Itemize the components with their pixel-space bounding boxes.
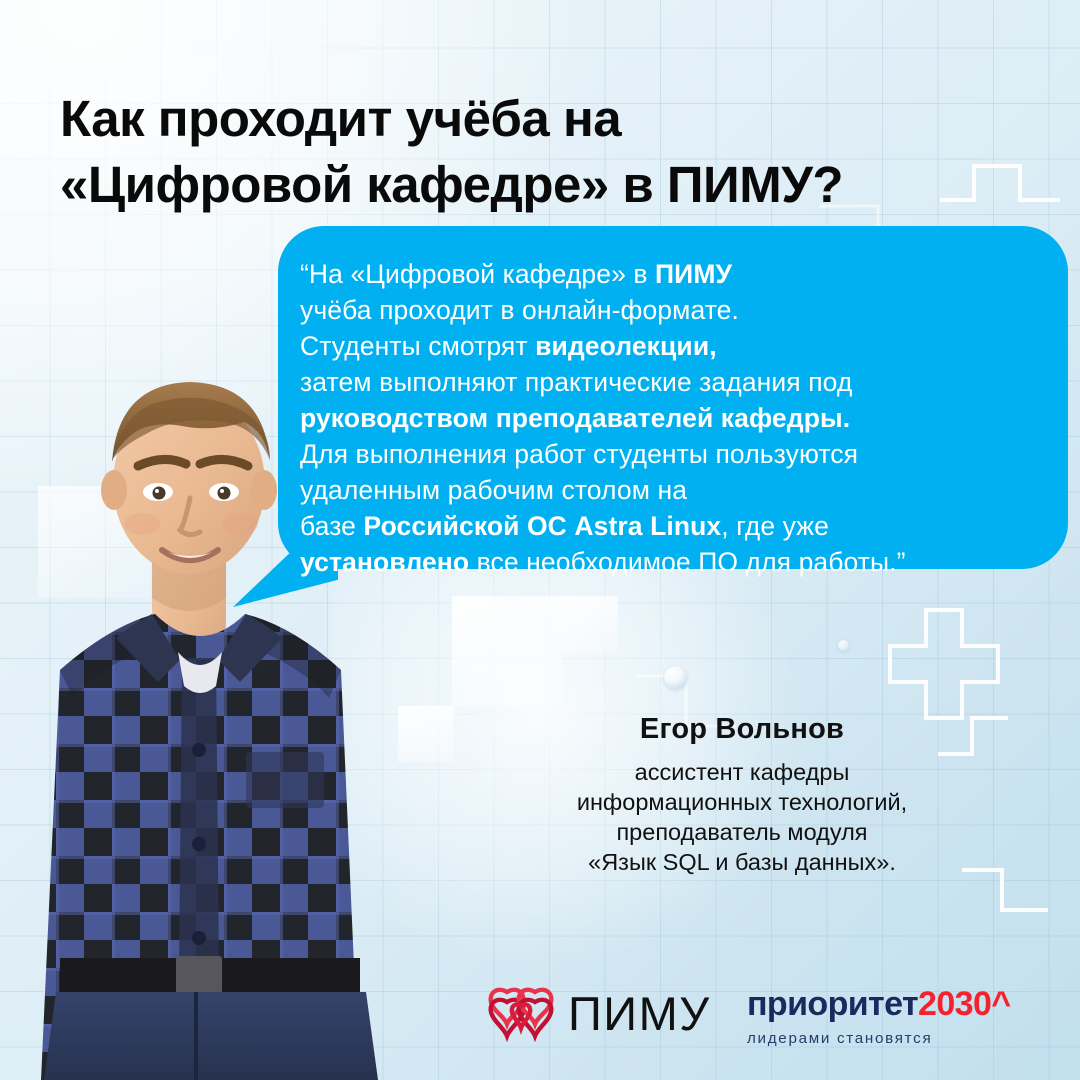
quote-line-4: затем выполняют практические задания под — [300, 364, 1038, 400]
quote-run: все необходимое ПО для работы.” — [469, 547, 905, 577]
quote-line-2: учёба проходит в онлайн-формате. — [300, 292, 1038, 328]
quote-line-5: руководством преподавателей кафедры. — [300, 400, 1038, 436]
quote-line-1: “На «Цифровой кафедре» в ПИМУ — [300, 256, 1038, 292]
page-title: Как проходит учёба на «Цифровой кафедре»… — [60, 86, 1020, 218]
background-step-shape — [398, 706, 454, 762]
quote-emphasis: ПИМУ — [655, 259, 732, 289]
speaker-role-line-4: «Язык SQL и базы данных». — [452, 847, 1032, 877]
priority-tagline: лидерами становятся — [747, 1030, 1011, 1047]
quote-line-9: установлено все необходимое ПО для работ… — [300, 544, 1038, 580]
logo-bar: ПИМУ приоритет2030^ лидерами становятся — [0, 975, 1080, 1080]
speaker-role: ассистент кафедрыинформационных технолог… — [452, 757, 1032, 877]
speaker-role-line-3: преподаватель модуля — [452, 817, 1032, 847]
speaker-photo — [0, 352, 400, 1080]
title-line-2: «Цифровой кафедре» в ПИМУ? — [60, 152, 1020, 218]
speaker-name: Егор Вольнов — [452, 712, 1032, 747]
quote-text: “На «Цифровой кафедре» в ПИМУучёба прохо… — [300, 256, 1038, 580]
quote-run: учёба проходит в онлайн-формате. — [300, 295, 739, 325]
quote-line-7: удаленным рабочим столом на — [300, 472, 1038, 508]
pimu-wordmark: ПИМУ — [568, 990, 711, 1037]
speaker-role-line-1: ассистент кафедры — [452, 757, 1032, 787]
quote-run: , где уже — [721, 511, 829, 541]
title-line-1: Как проходит учёба на — [60, 86, 1020, 152]
background-sphere — [838, 640, 849, 651]
attribution-block: Егор Вольнов ассистент кафедрыинформацио… — [452, 712, 1032, 877]
priority-2030-wordmark: приоритет2030^ — [747, 987, 1011, 1021]
priority-caret: ^ — [991, 985, 1010, 1023]
priority-word: приоритет — [747, 985, 918, 1023]
pimu-logo[interactable]: ПИМУ — [487, 984, 711, 1042]
priority-year: 2030 — [918, 985, 991, 1023]
quote-run: “На «Цифровой кафедре» в — [300, 259, 655, 289]
priority-2030-logo[interactable]: приоритет2030^ лидерами становятся — [747, 987, 1011, 1047]
quote-emphasis: видеолекции, — [535, 331, 717, 361]
pimu-interlocking-hearts-icon — [487, 984, 555, 1042]
speaker-portrait-illustration — [0, 352, 400, 1080]
quote-emphasis: Российской ОС Astra Linux — [363, 511, 721, 541]
quote-line-8: базе Российской ОС Astra Linux, где уже — [300, 508, 1038, 544]
background-step-shape — [562, 596, 618, 652]
quote-line-6: Для выполнения работ студенты пользуются — [300, 436, 1038, 472]
quote-line-3: Студенты смотрят видеолекции, — [300, 328, 1038, 364]
background-sphere — [664, 666, 687, 689]
speaker-role-line-2: информационных технологий, — [452, 787, 1032, 817]
poster-root: Как проходит учёба на «Цифровой кафедре»… — [0, 0, 1080, 1080]
background-step-shape — [452, 596, 562, 706]
